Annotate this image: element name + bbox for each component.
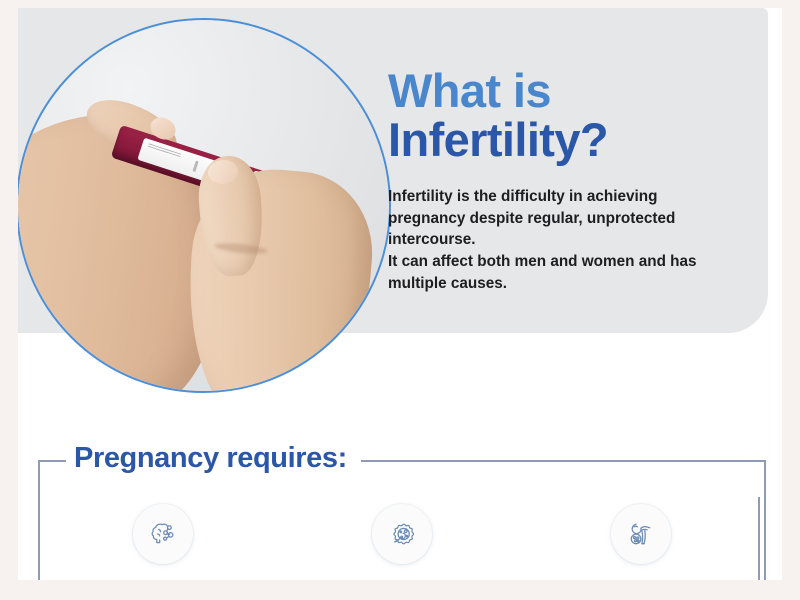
uterus-fallopian-tube-icon bbox=[611, 504, 671, 564]
requirement-item-brain bbox=[73, 504, 253, 574]
test-result-line-control bbox=[192, 161, 198, 172]
requirement-item-uterus bbox=[551, 504, 731, 574]
requirements-icon-row bbox=[44, 504, 760, 574]
egg-fertilization-icon bbox=[372, 504, 432, 564]
page-title-line-1: What is bbox=[388, 66, 768, 115]
content-canvas: What is Infertility? Infertility is the … bbox=[18, 8, 782, 580]
headline-block: What is Infertility? bbox=[388, 66, 768, 165]
brain-hormones-icon bbox=[133, 504, 193, 564]
page-title-line-2: Infertility? bbox=[388, 115, 768, 164]
infographic-page: What is Infertility? Infertility is the … bbox=[0, 0, 800, 600]
hero-description: Infertility is the difficulty in achievi… bbox=[388, 186, 718, 295]
photo-inner bbox=[18, 20, 389, 391]
pregnancy-test-photo bbox=[18, 18, 391, 393]
requirements-heading: Pregnancy requires: bbox=[66, 440, 361, 478]
requirement-item-egg bbox=[312, 504, 492, 574]
